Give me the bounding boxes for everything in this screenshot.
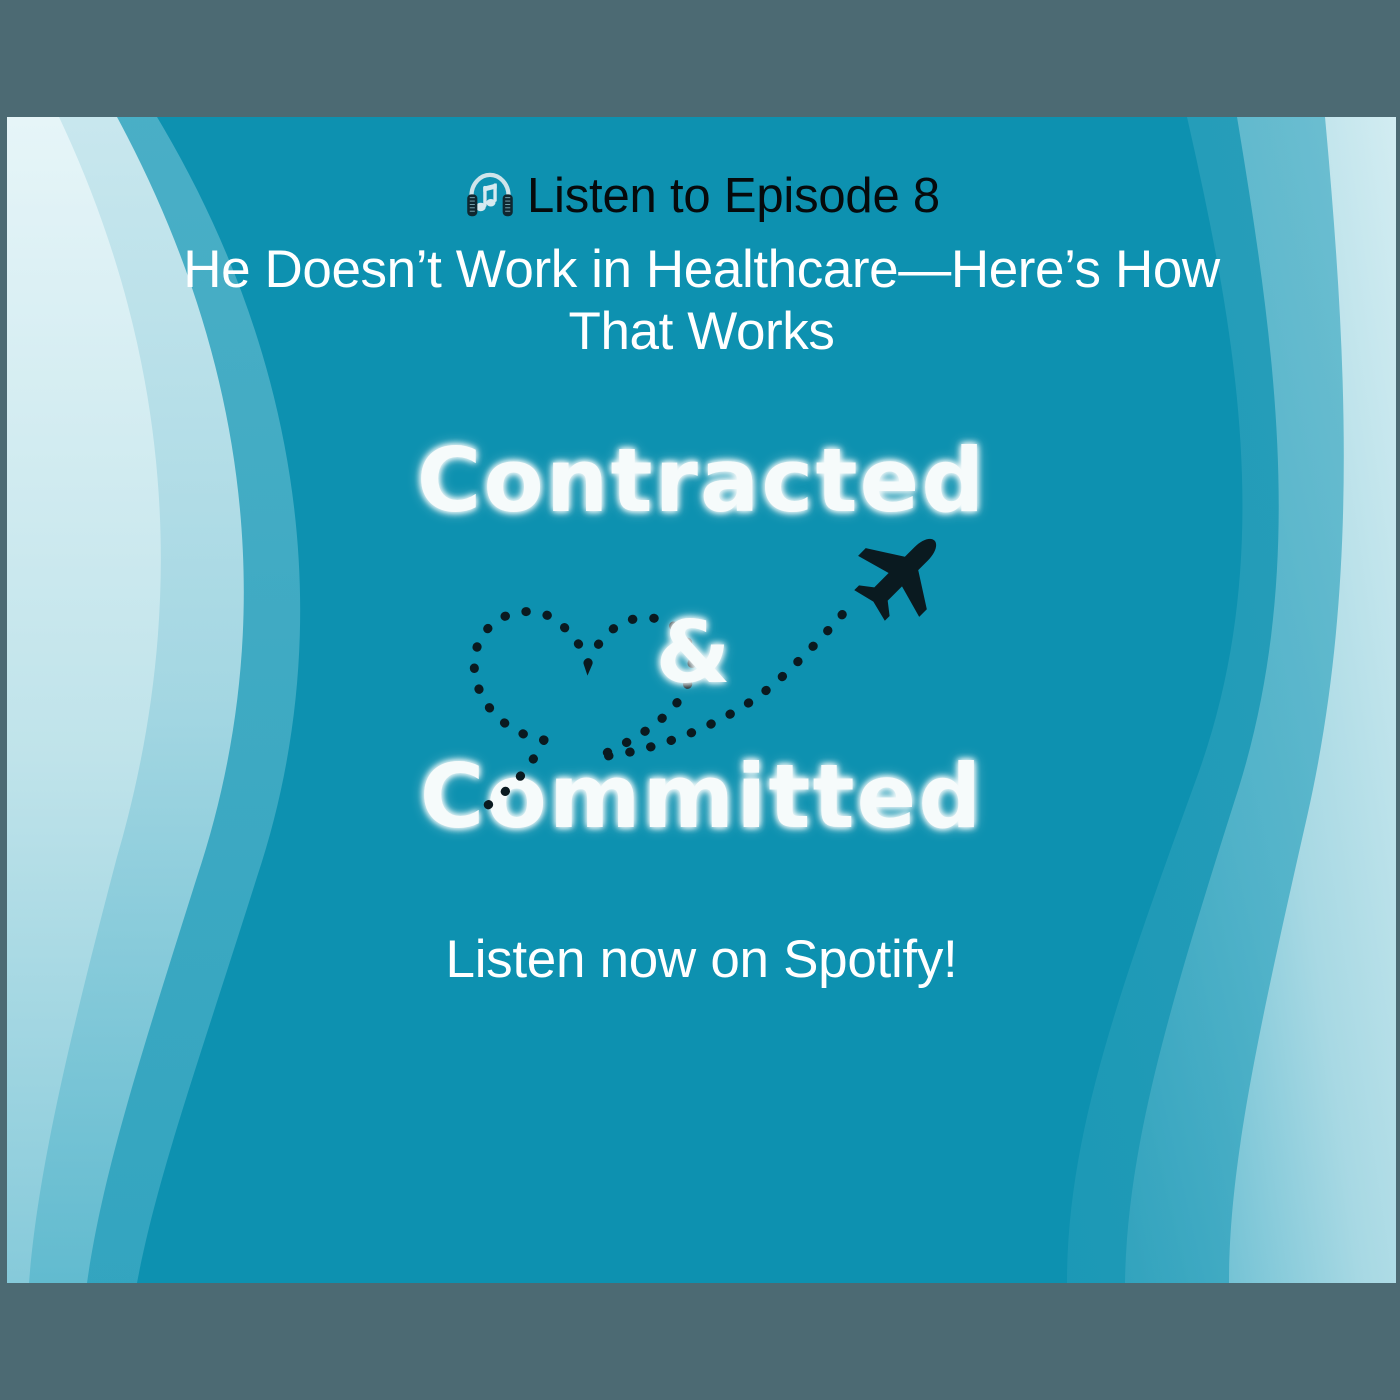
episode-headline: Listen to Episode 8	[527, 172, 940, 221]
headphones-music-icon	[463, 169, 517, 223]
show-logo: Contracted & Committed	[352, 415, 1052, 845]
outer-frame: Listen to Episode 8 He Doesn’t Work in H…	[0, 0, 1400, 1400]
episode-subtitle: He Doesn’t Work in Healthcare—Here’s How…	[147, 239, 1257, 363]
logo-ampersand: &	[656, 603, 731, 703]
card-content: Listen to Episode 8 He Doesn’t Work in H…	[7, 117, 1396, 1283]
logo-word-contracted: Contracted	[352, 429, 1052, 532]
podcast-promo-card: Listen to Episode 8 He Doesn’t Work in H…	[7, 117, 1396, 1283]
airplane-icon	[838, 510, 964, 636]
headline-row: Listen to Episode 8	[463, 169, 940, 223]
listen-cta-text: Listen now on Spotify!	[446, 929, 958, 990]
